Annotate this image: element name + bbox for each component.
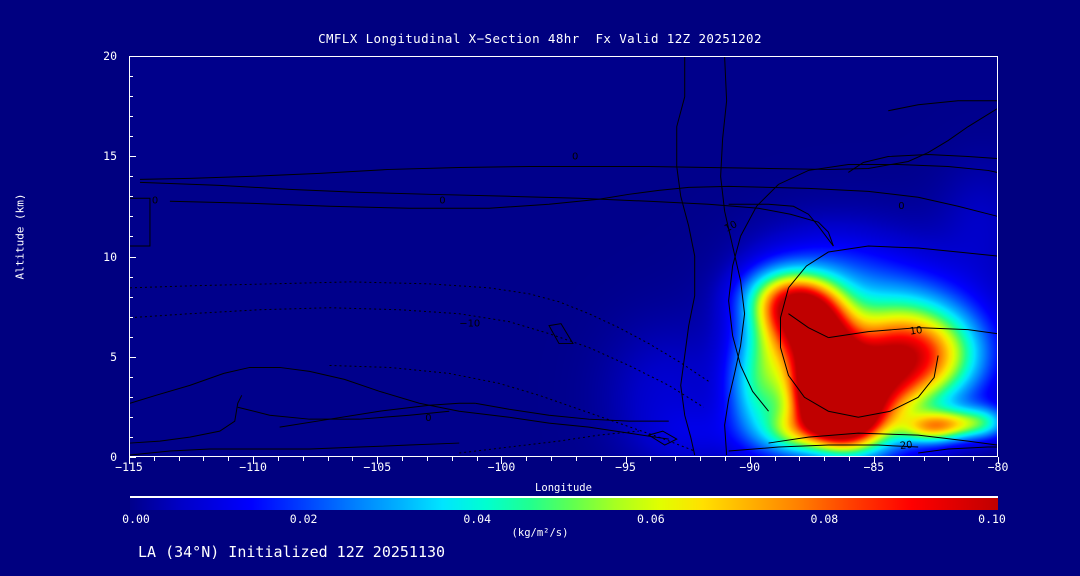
y-tick <box>129 397 133 398</box>
x-axis-title: Longitude <box>129 482 998 494</box>
colorbar-tick-label: 0.08 <box>811 512 839 526</box>
x-tick-label: −90 <box>739 460 760 474</box>
x-tick-labels: −115−110−105−100−95−90−85−80 <box>0 460 1080 476</box>
colorbar-tick-label: 0.06 <box>637 512 665 526</box>
y-tick <box>129 156 136 157</box>
colorbar-gradient <box>130 498 998 510</box>
y-axis-title: Altitude (km) <box>14 157 27 317</box>
y-tick <box>129 216 133 217</box>
contour-label-10: 10 <box>723 219 739 235</box>
y-tick <box>129 317 133 318</box>
chart-title: CMFLX Longitudinal X−Section 48hr Fx Val… <box>0 31 1080 46</box>
y-tick-label: 5 <box>110 350 117 364</box>
y-tick-label: 0 <box>110 450 117 464</box>
colorbar-tick-label: 0.10 <box>978 512 1006 526</box>
y-tick <box>129 337 133 338</box>
footer-caption: LA (34°N) Initialized 12Z 20251130 <box>138 543 445 561</box>
x-tick-label: −110 <box>239 460 267 474</box>
y-tick <box>129 277 133 278</box>
y-tick <box>129 176 133 177</box>
x-tick-label: −85 <box>863 460 884 474</box>
contour-label-10: 10 <box>909 325 923 338</box>
contour-label-0: 0 <box>425 413 431 424</box>
y-tick <box>129 357 136 358</box>
y-tick-label: 10 <box>103 250 117 264</box>
y-tick <box>129 437 133 438</box>
y-tick <box>129 76 133 77</box>
x-tick-label: −100 <box>488 460 516 474</box>
y-tick <box>129 136 133 137</box>
colorbar-tick-label: 0.02 <box>290 512 318 526</box>
colorbar-tick-labels: 0.000.020.040.060.080.10 <box>0 512 1080 528</box>
colorbar-tick-label: 0.04 <box>463 512 491 526</box>
contour-label-0: 0 <box>152 195 158 206</box>
y-tick <box>129 96 133 97</box>
contour-label-neg10: −10 <box>459 319 480 330</box>
y-tick <box>129 297 133 298</box>
colorbar-tick-label: 0.00 <box>122 512 150 526</box>
contour-label-0: 0 <box>439 195 445 206</box>
colorbar-unit-label: (kg/m²/s) <box>0 527 1080 539</box>
y-tick-label: 20 <box>103 49 117 63</box>
contour-label-0: 0 <box>572 151 578 162</box>
x-tick-label: −80 <box>988 460 1009 474</box>
plot-area: 0 0 0 0 10 10 20 <box>129 56 998 457</box>
contour-label-0: 0 <box>898 201 904 212</box>
y-tick <box>129 457 136 458</box>
y-tick <box>129 196 133 197</box>
x-tick-label: −105 <box>363 460 391 474</box>
y-tick-label: 15 <box>103 149 117 163</box>
y-tick <box>129 116 133 117</box>
y-tick <box>129 377 133 378</box>
y-tick <box>129 257 136 258</box>
x-tick-label: −95 <box>615 460 636 474</box>
y-tick-labels: Altitude (km) 05101520 <box>0 0 129 576</box>
y-tick <box>129 236 133 237</box>
y-tick <box>129 417 133 418</box>
colorbar <box>130 496 998 510</box>
y-tick <box>129 56 136 57</box>
contour-overlay: 0 0 0 0 10 10 20 <box>130 57 997 456</box>
